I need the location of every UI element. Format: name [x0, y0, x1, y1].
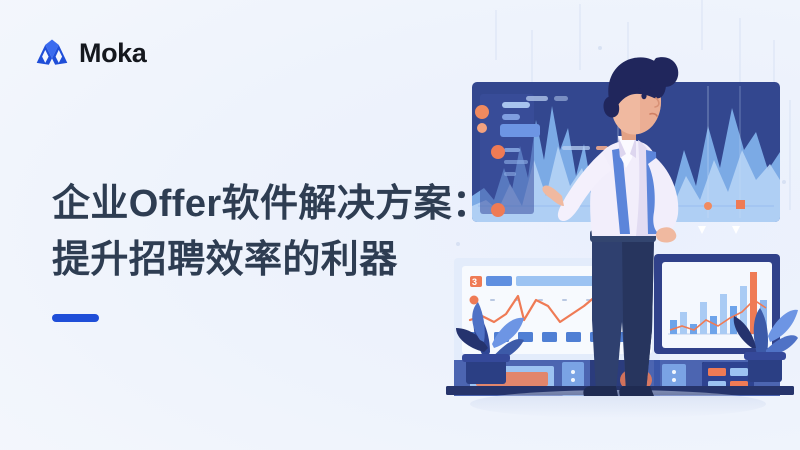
- moka-mountain-m-icon: [34, 38, 70, 68]
- page-title: 企业Offer软件解决方案： 提升招聘效率的利器: [52, 176, 522, 288]
- cover-canvas: Moka 企业Offer软件解决方案： 提升招聘效率的利器: [0, 0, 800, 450]
- floor-shadow: [470, 390, 766, 418]
- brand-wordmark: Moka: [79, 40, 146, 67]
- brand-lockup: Moka: [34, 38, 146, 68]
- title-line-2: 提升招聘效率的利器: [52, 232, 522, 288]
- accent-underline-bar: [52, 314, 99, 322]
- title-line-1: 企业Offer软件解决方案：: [52, 176, 522, 232]
